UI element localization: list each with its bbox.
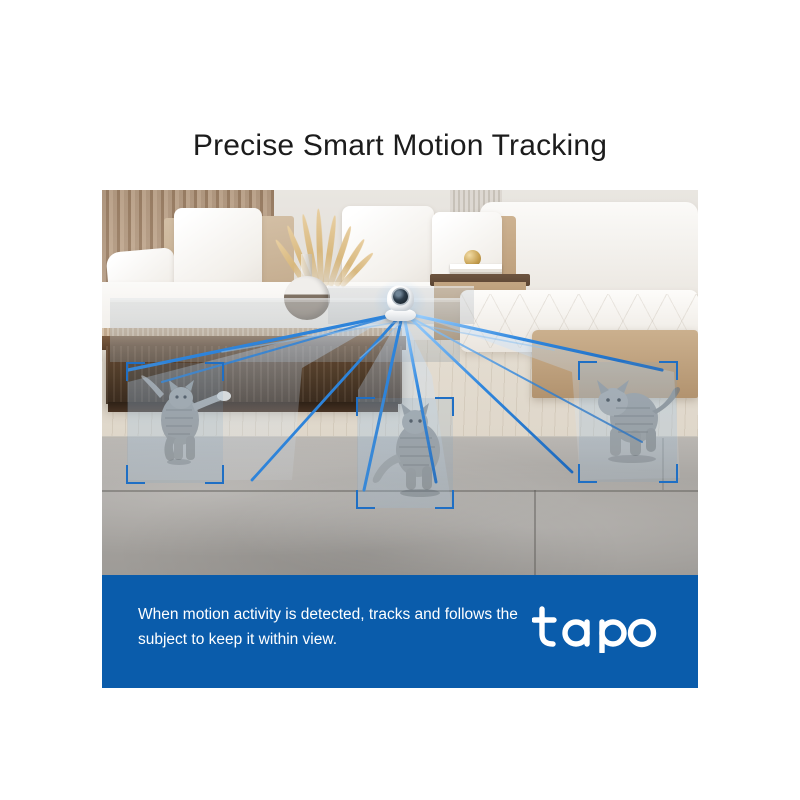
camera-lens-icon [393,289,408,304]
caption-banner: When motion activity is detected, tracks… [102,575,698,688]
bracket-bottom-left [126,465,145,484]
tracking-frame-center [357,398,453,508]
bracket-top-right [435,397,454,416]
bracket-top-left [578,361,597,380]
living-room-scene [102,190,698,575]
tracking-frame-right [579,362,677,482]
page-title: Precise Smart Motion Tracking [0,126,800,166]
bracket-bottom-left [578,464,597,483]
caption-text: When motion activity is detected, tracks… [138,602,538,652]
hero-image-card: When motion activity is detected, tracks… [102,190,698,688]
bracket-top-left [126,362,145,381]
bracket-top-left [356,397,375,416]
bracket-top-right [205,362,224,381]
bracket-bottom-right [205,465,224,484]
tapo-pan-tilt-camera [378,282,422,324]
tapo-logo [532,603,664,653]
tracking-frame-left [127,363,223,483]
bracket-bottom-left [356,490,375,509]
bracket-top-right [659,361,678,380]
bracket-bottom-right [659,464,678,483]
bracket-bottom-right [435,490,454,509]
product-feature-page: Precise Smart Motion Tracking [0,0,800,800]
